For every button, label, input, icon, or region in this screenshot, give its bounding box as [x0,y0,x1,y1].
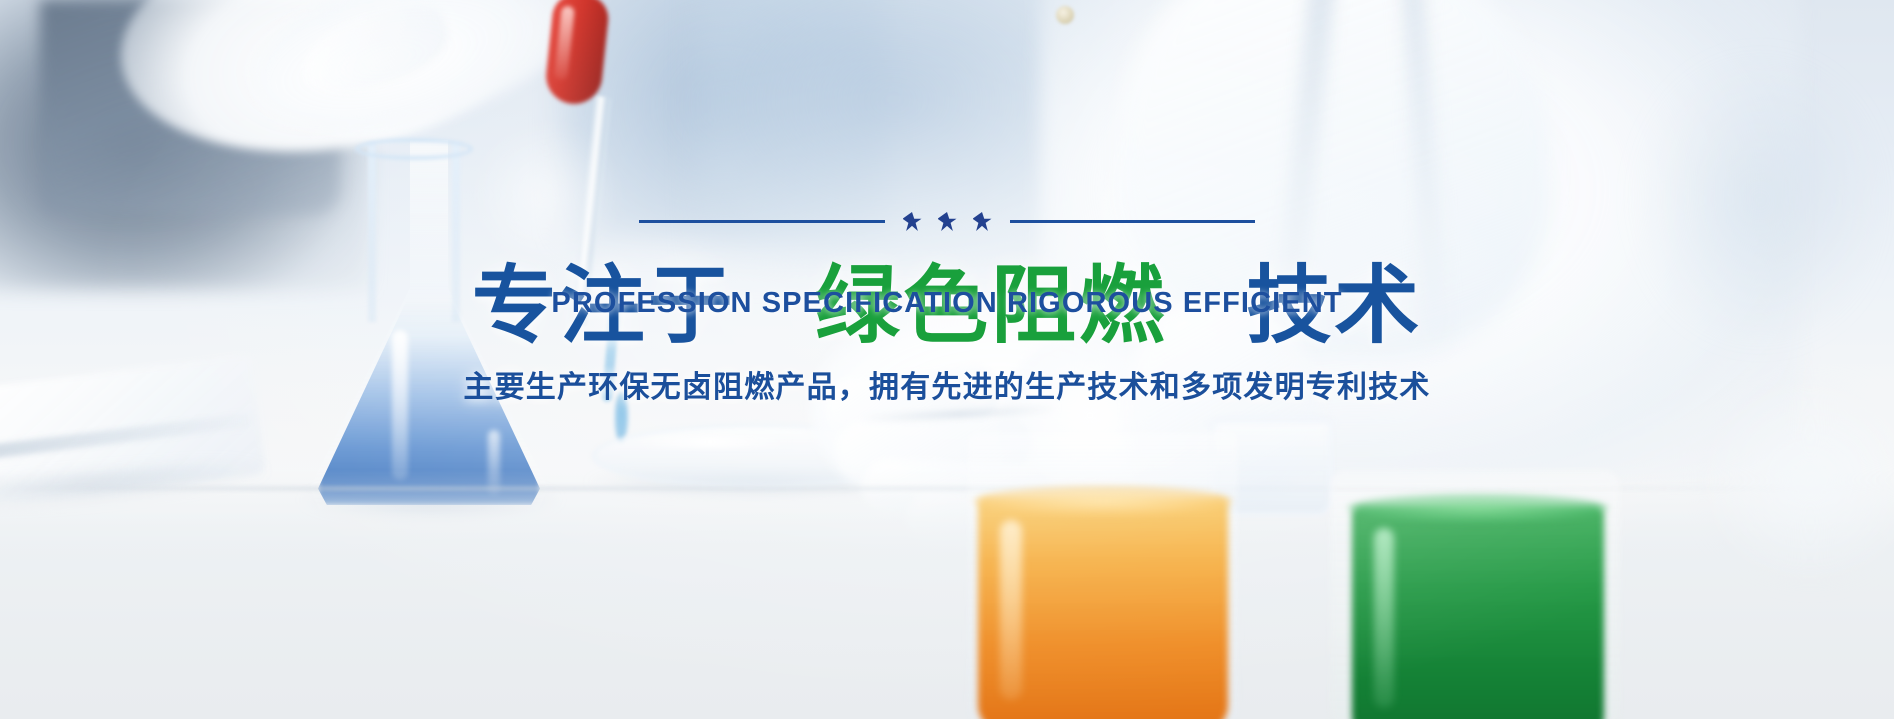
bokeh-blur-3 [1700,380,1894,580]
orange-beaker-highlight [1000,520,1022,700]
petri-dish-highlight [630,436,790,448]
lab-coat-button [1056,6,1074,24]
flask-highlight [392,330,408,480]
green-flask-highlight [1374,528,1394,708]
bokeh-blur-1 [470,120,620,270]
lab-background-photo [0,0,1894,719]
orange-beaker-surface [974,486,1232,516]
flask-neck-left [368,142,376,322]
bokeh-blur-2 [1640,60,1880,340]
hero-banner: 专注于 绿色阻燃 技术 PROFESSION SPECIFICATION RIG… [0,0,1894,719]
flask-neck-right [452,142,460,322]
flask-rim [355,138,473,160]
green-flask-surface [1348,494,1608,522]
